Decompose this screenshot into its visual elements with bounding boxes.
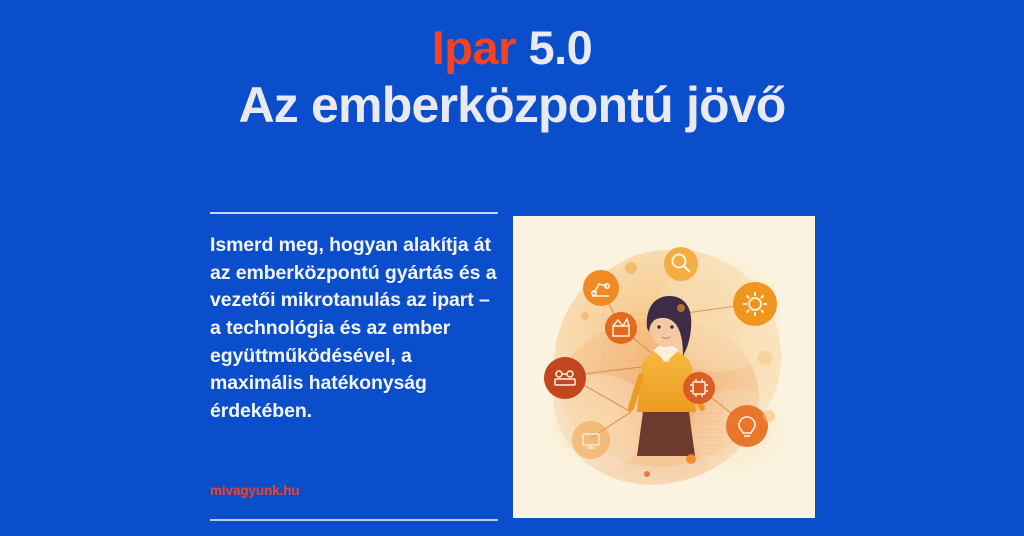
body-paragraph: Ismerd meg, hogyan alakítja át az emberk… xyxy=(210,232,498,426)
lightbulb-icon xyxy=(726,405,768,447)
person-eye-left xyxy=(657,325,660,328)
person-trousers xyxy=(637,412,695,456)
divider-top xyxy=(210,212,498,214)
factory-icon xyxy=(605,312,637,344)
accent-dot-7 xyxy=(644,471,650,477)
page-title: Ipar 5.0 Az emberközpontú jövő xyxy=(0,22,1024,134)
site-url-link[interactable]: mivagyunk.hu xyxy=(210,483,300,498)
monitor-icon xyxy=(572,421,610,459)
magnifier-icon xyxy=(664,247,698,281)
divider-bottom xyxy=(210,519,498,521)
accent-dot-1 xyxy=(625,262,637,274)
gear-icon xyxy=(733,282,777,326)
accent-dot-3 xyxy=(686,454,696,464)
accent-dot-2 xyxy=(677,304,685,312)
content-column: Ismerd meg, hogyan alakítja át az emberk… xyxy=(210,212,498,426)
illustration-graphic xyxy=(513,216,815,518)
poster-canvas: Ipar 5.0 Az emberközpontú jövő Ismerd me… xyxy=(0,0,1024,536)
illustration-panel xyxy=(513,216,815,518)
accent-dot-4 xyxy=(581,312,589,320)
title-version: 5.0 xyxy=(528,21,592,74)
accent-dot-6 xyxy=(763,410,775,422)
accent-dot-5 xyxy=(758,351,772,365)
title-brand: Ipar xyxy=(432,21,516,74)
robot-arm-icon xyxy=(583,270,619,306)
conveyor-icon xyxy=(544,357,586,399)
person-eye-right xyxy=(670,325,673,328)
title-subtitle: Az emberközpontú jövő xyxy=(0,77,1024,134)
title-version-spacer xyxy=(516,21,529,74)
title-primary-line: Ipar 5.0 xyxy=(0,22,1024,75)
chip-icon xyxy=(683,372,715,404)
